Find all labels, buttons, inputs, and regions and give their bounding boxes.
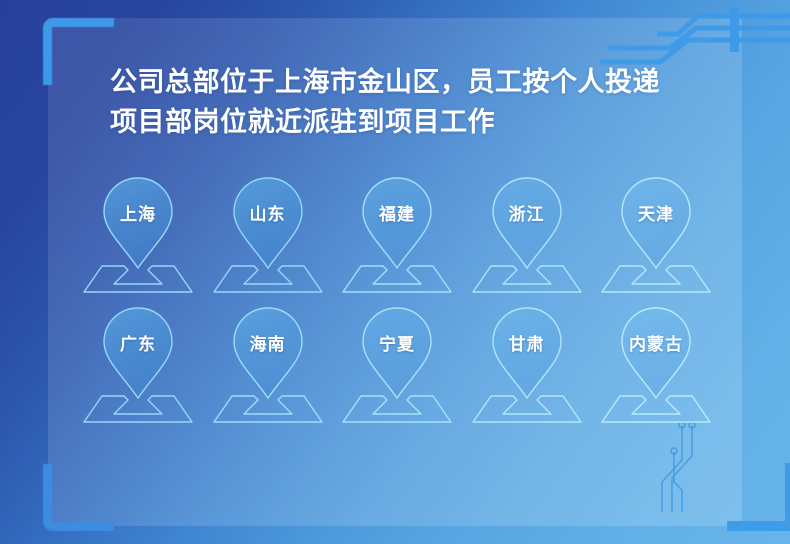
corner-bracket-top-left (43, 18, 114, 85)
location-label: 山东 (208, 200, 328, 225)
location-item-tianjin[interactable]: 天津 (596, 172, 716, 302)
map-pin-icon (467, 302, 587, 427)
corner-bracket-bottom-left (43, 464, 114, 531)
location-row-2: 广东 海南 (78, 302, 716, 432)
location-label: 上海 (78, 200, 198, 225)
location-label: 浙江 (467, 200, 587, 225)
location-label: 内蒙古 (596, 330, 716, 355)
location-item-zhejiang[interactable]: 浙江 (467, 172, 587, 302)
map-pin-icon (467, 172, 587, 297)
map-pin-icon (596, 302, 716, 427)
location-label: 甘肃 (467, 330, 587, 355)
map-pin-icon (337, 302, 457, 427)
map-pin-icon (78, 172, 198, 297)
location-item-ningxia[interactable]: 宁夏 (337, 302, 457, 432)
location-label: 广东 (78, 330, 198, 355)
corner-bracket-bottom-right (727, 463, 790, 531)
map-pin-icon (208, 302, 328, 427)
location-grid: 上海 山东 (78, 172, 716, 432)
slide-canvas: 公司总部位于上海市金山区，员工按个人投递 项目部岗位就近派驻到项目工作 (0, 0, 790, 544)
location-label: 宁夏 (337, 330, 457, 355)
map-pin-icon (208, 172, 328, 297)
location-item-shanghai[interactable]: 上海 (78, 172, 198, 302)
location-item-guangdong[interactable]: 广东 (78, 302, 198, 432)
page-title: 公司总部位于上海市金山区，员工按个人投递 项目部岗位就近派驻到项目工作 (110, 62, 710, 142)
location-item-inner-mongolia[interactable]: 内蒙古 (596, 302, 716, 432)
location-label: 福建 (337, 200, 457, 225)
location-label: 天津 (596, 200, 716, 225)
location-item-gansu[interactable]: 甘肃 (467, 302, 587, 432)
location-label: 海南 (208, 330, 328, 355)
location-item-fujian[interactable]: 福建 (337, 172, 457, 302)
map-pin-icon (337, 172, 457, 297)
location-item-shandong[interactable]: 山东 (208, 172, 328, 302)
location-item-hainan[interactable]: 海南 (208, 302, 328, 432)
map-pin-icon (78, 302, 198, 427)
location-row-1: 上海 山东 (78, 172, 716, 302)
map-pin-icon (596, 172, 716, 297)
